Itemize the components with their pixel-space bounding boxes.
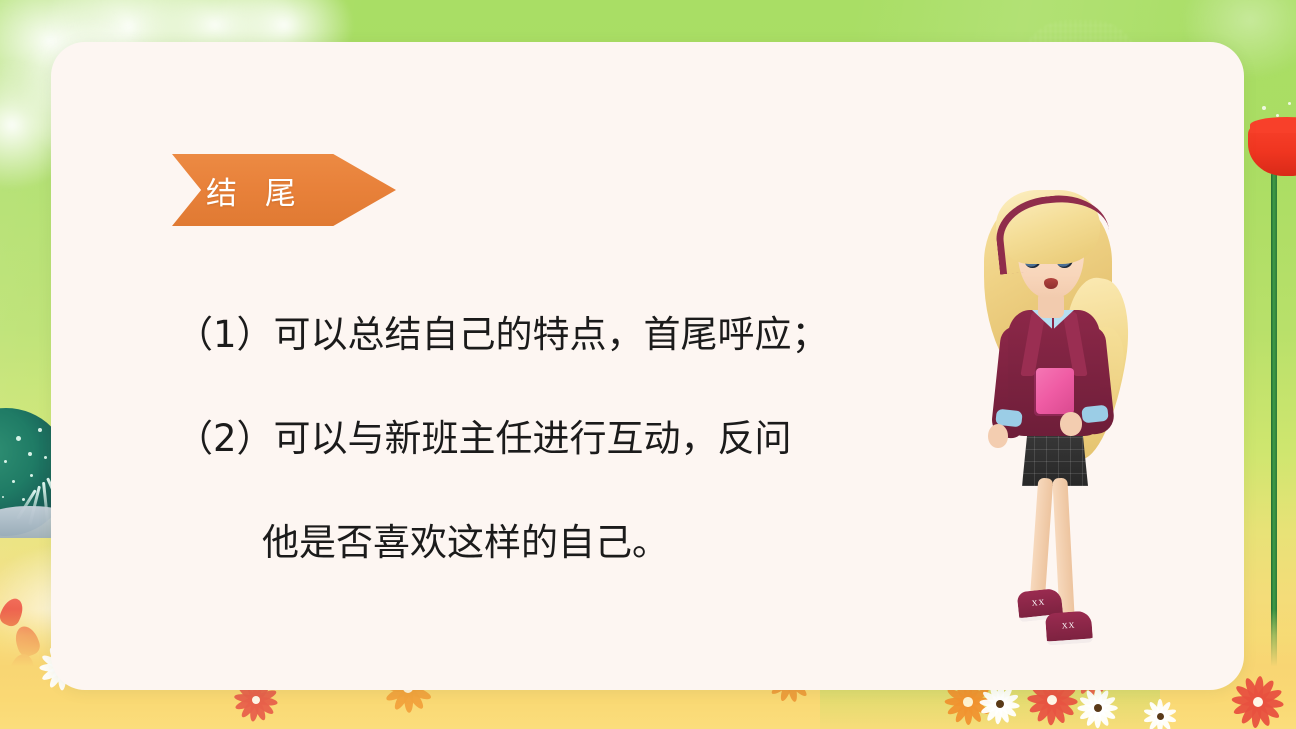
sparkle-icon <box>1262 106 1266 110</box>
sparkle-icon <box>1288 102 1291 105</box>
body-text-block: （1）可以总结自己的特点，首尾呼应； （2）可以与新班主任进行互动，反问 他是否… <box>176 283 966 595</box>
flower-core <box>1157 713 1164 720</box>
coral-daisy-icon <box>1227 671 1289 729</box>
white-daisy-icon <box>1140 696 1180 729</box>
bush-speckle <box>2 496 4 498</box>
bush-speckle <box>44 456 47 459</box>
cuff-right <box>1081 405 1109 424</box>
body-text-line-3: 他是否喜欢这样的自己。 <box>176 491 966 595</box>
left-leg <box>1030 478 1054 603</box>
hand-right <box>1060 412 1082 436</box>
slide-root: 结 尾 （1）可以总结自己的特点，首尾呼应； （2）可以与新班主任进行互动，反问… <box>0 0 1296 729</box>
bush-speckle <box>22 498 25 501</box>
body-text-line-2: （2）可以与新班主任进行互动，反问 <box>176 387 966 491</box>
bush-speckle <box>4 460 7 463</box>
hand-left <box>988 424 1008 448</box>
flower-core <box>963 697 973 707</box>
section-title: 结 尾 <box>172 154 396 226</box>
bush-speckle <box>12 480 15 483</box>
pink-book <box>1036 368 1074 414</box>
white-daisy-icon <box>1074 684 1122 729</box>
bush-speckle <box>16 436 21 441</box>
shoe-logo: XX <box>1031 597 1045 607</box>
bush-speckle <box>38 428 42 432</box>
shoe-logo: XX <box>1062 621 1076 631</box>
bush-speckle <box>30 474 33 477</box>
content-card: 结 尾 （1）可以总结自己的特点，首尾呼应； （2）可以与新班主任进行互动，反问… <box>51 42 1244 690</box>
schoolgirl-illustration: XX XX <box>952 186 1142 630</box>
bush-speckle <box>28 452 32 456</box>
sparkle-icon <box>1276 114 1279 117</box>
body-text-line-1: （1）可以总结自己的特点，首尾呼应； <box>176 283 966 387</box>
right-shoe: XX <box>1045 610 1093 645</box>
